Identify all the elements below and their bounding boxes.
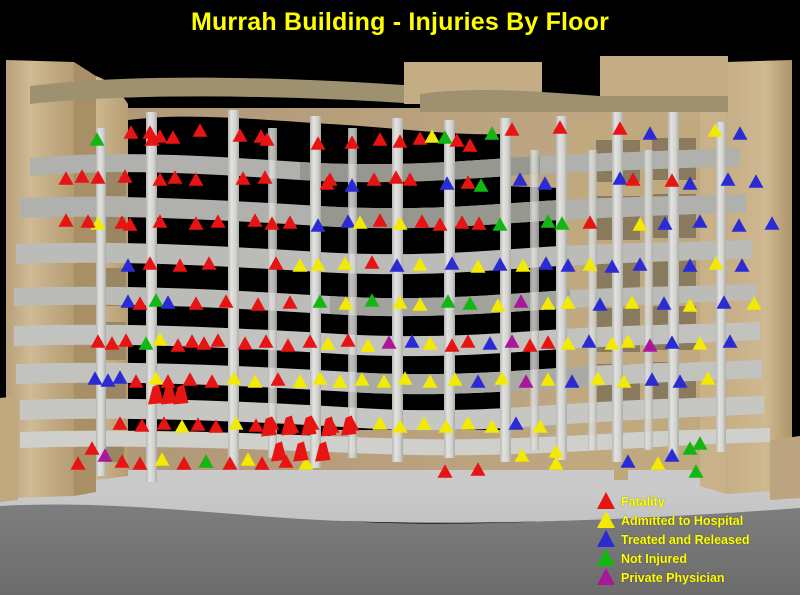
private-physician-marker-icon (596, 569, 616, 586)
legend-item-admitted-to-hospital: Admitted to Hospital (596, 511, 796, 530)
legend-label: Treated and Released (621, 533, 750, 547)
legend-label: Private Physician (621, 571, 725, 585)
fatality-marker-icon (596, 493, 616, 510)
not-injured-marker-icon (596, 550, 616, 567)
legend: Fatality Admitted to Hospital Treated an… (596, 492, 796, 587)
legend-item-treated-and-released: Treated and Released (596, 530, 796, 549)
legend-label: Fatality (621, 495, 665, 509)
legend-label: Admitted to Hospital (621, 514, 743, 528)
legend-item-private-physician: Private Physician (596, 568, 796, 587)
admitted-marker-icon (596, 512, 616, 529)
page-title: Murrah Building - Injuries By Floor (0, 8, 800, 37)
legend-item-not-injured: Not Injured (596, 549, 796, 568)
legend-label: Not Injured (621, 552, 687, 566)
right-plinth (770, 436, 800, 500)
screenshot-root: Murrah Building - Injuries By Floor Fata… (0, 0, 800, 595)
treated-marker-icon (596, 531, 616, 548)
left-plinth (0, 396, 18, 502)
legend-item-fatality: Fatality (596, 492, 796, 511)
